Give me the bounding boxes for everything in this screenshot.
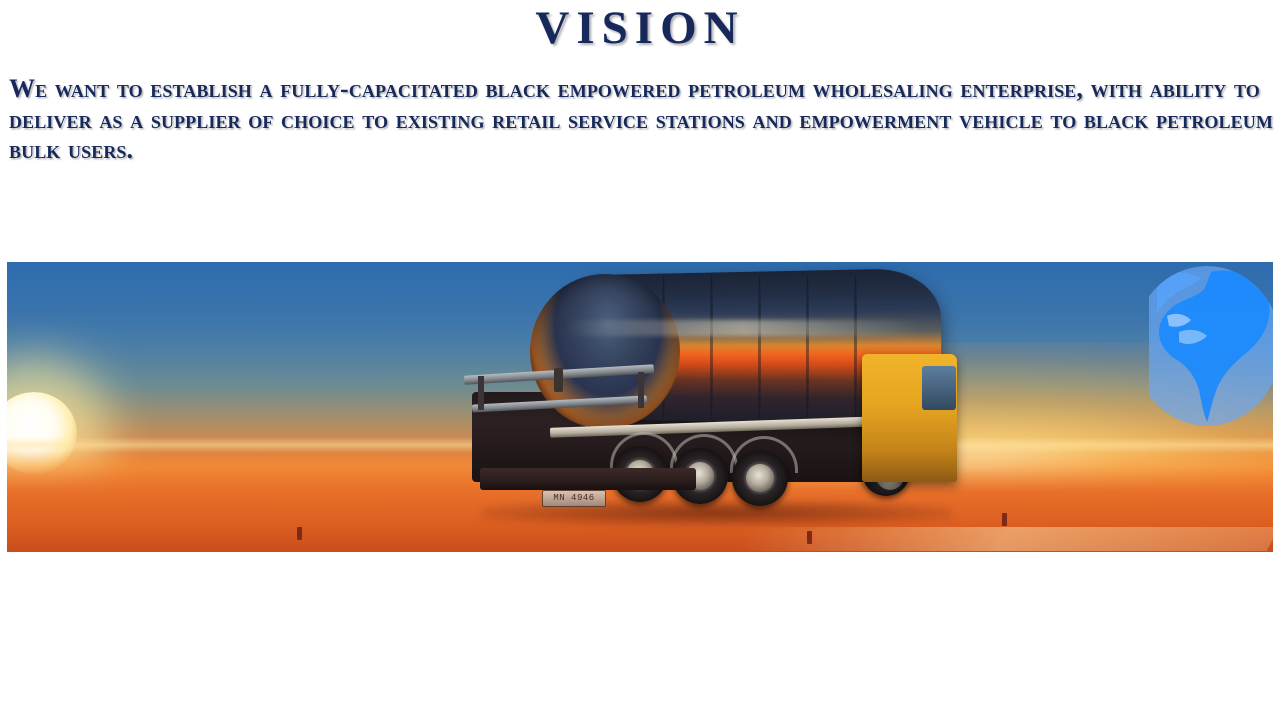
rail-support xyxy=(638,372,644,408)
tanker-truck-illustration: MN 4946 xyxy=(462,272,967,547)
vision-statement-text: We want to establish a fully-capacitated… xyxy=(9,74,1274,166)
banner-image-canvas: MN 4946 MAKHOBA ENERGY xyxy=(7,262,1273,552)
vision-banner-image: MN 4946 MAKHOBA ENERGY xyxy=(4,259,1276,555)
globe-icon xyxy=(1149,266,1273,444)
license-plate: MN 4946 xyxy=(542,490,606,507)
trailer-wheel xyxy=(732,450,788,506)
road-marker-post xyxy=(1002,513,1007,526)
tank-ring xyxy=(758,274,761,420)
tank-ring xyxy=(806,274,809,420)
tank-ring xyxy=(710,274,713,420)
page-title: VISION xyxy=(0,2,1280,54)
road-marker-post xyxy=(297,527,302,540)
rail-support xyxy=(478,376,484,410)
rear-bumper xyxy=(480,468,696,490)
tank-ring xyxy=(854,274,857,420)
tank-highlight xyxy=(562,320,922,336)
cab-mirror xyxy=(554,368,563,392)
truck-cab xyxy=(862,354,957,482)
cab-window xyxy=(922,366,956,410)
